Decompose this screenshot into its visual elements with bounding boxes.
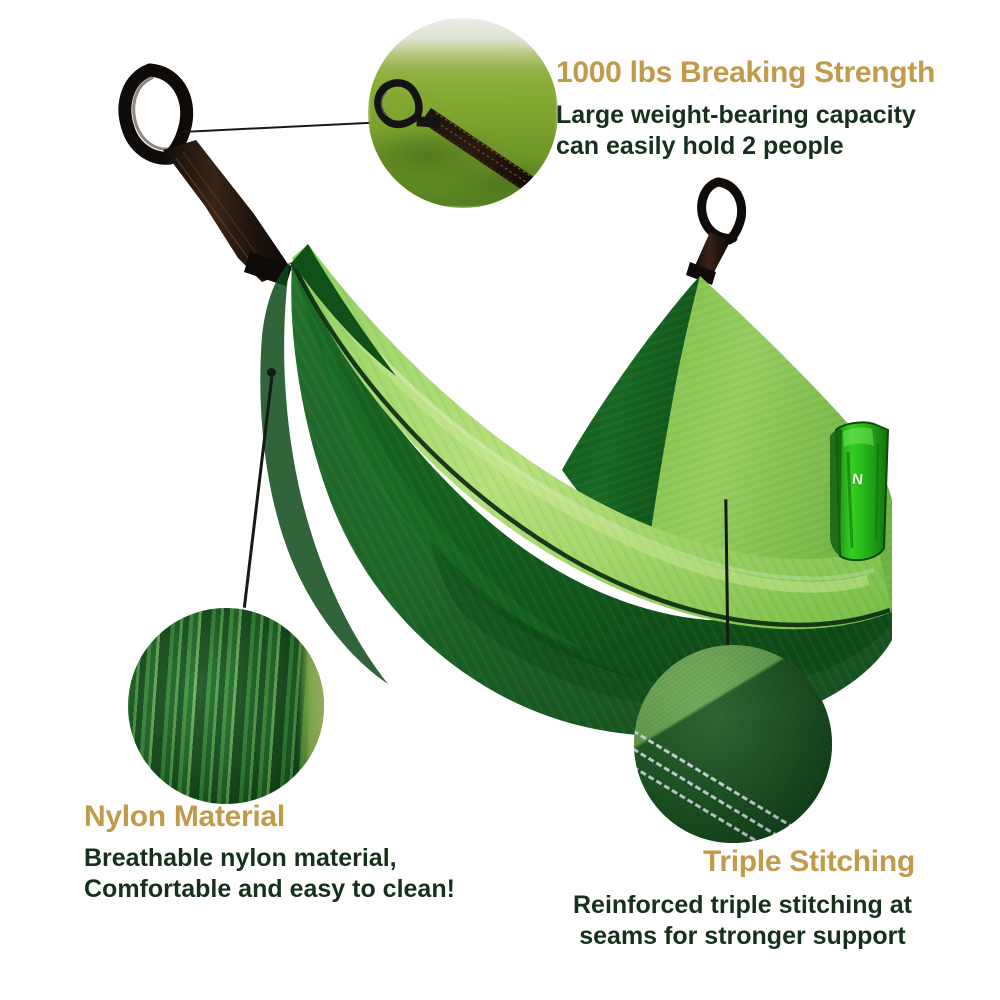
- callout-circle-nylon-material: [128, 608, 324, 804]
- feature-body-line: Reinforced triple stitching at: [573, 890, 912, 921]
- feature-body-line: seams for stronger support: [573, 921, 912, 952]
- stuff-sack-logo-text: N: [851, 471, 879, 491]
- feature-heading-breaking-strength: 1000 lbs Breaking Strength: [556, 56, 935, 90]
- nylon-vignette: [128, 608, 324, 804]
- feature-heading-triple-stitching: Triple Stitching: [703, 845, 915, 879]
- right-suspension-strap: [686, 182, 742, 285]
- feature-body-triple-stitching: Reinforced triple stitching at seams for…: [573, 890, 912, 951]
- feature-heading-nylon-material: Nylon Material: [84, 800, 285, 834]
- feature-body-line: Comfortable and easy to clean!: [84, 874, 455, 905]
- leader-dot-nylon: [267, 368, 276, 377]
- feature-body-line: can easily hold 2 people: [556, 131, 916, 162]
- feature-body-nylon-material: Breathable nylon material, Comfortable a…: [84, 843, 455, 904]
- carabiner-photo: [368, 18, 558, 208]
- left-suspension-strap: [125, 70, 292, 286]
- stuff-sack-pouch: [830, 422, 888, 560]
- infographic-canvas: N: [0, 0, 1000, 1000]
- feature-body-breaking-strength: Large weight-bearing capacity can easily…: [556, 100, 916, 161]
- callout-circle-breaking-strength: [368, 18, 558, 208]
- feature-body-line: Breathable nylon material,: [84, 843, 455, 874]
- seam-vignette: [634, 645, 832, 843]
- feature-body-line: Large weight-bearing capacity: [556, 100, 916, 131]
- callout-circle-triple-stitching: [634, 645, 832, 843]
